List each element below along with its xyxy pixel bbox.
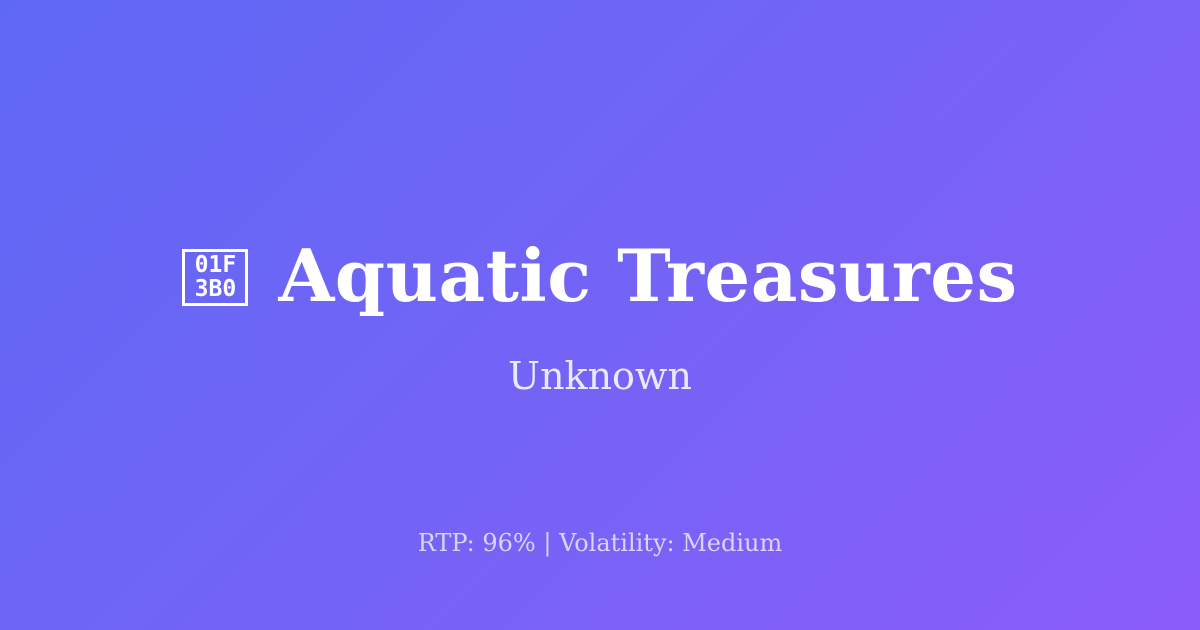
hero-block: 01F 3B0 Aquatic Treasures Unknown [0, 232, 1200, 398]
provider-subtitle: Unknown [508, 354, 692, 398]
slot-machine-icon: 01F 3B0 [182, 249, 248, 306]
page-title: Aquatic Treasures [278, 234, 1017, 318]
slot-machine-icon-codepoint-low: 3B0 [195, 277, 237, 301]
title-row: 01F 3B0 Aquatic Treasures [182, 232, 1017, 320]
game-preview-card: 01F 3B0 Aquatic Treasures Unknown RTP: 9… [0, 0, 1200, 630]
slot-machine-icon-codepoint-high: 01F [195, 253, 237, 277]
game-stats-line: RTP: 96% | Volatility: Medium [0, 528, 1200, 558]
